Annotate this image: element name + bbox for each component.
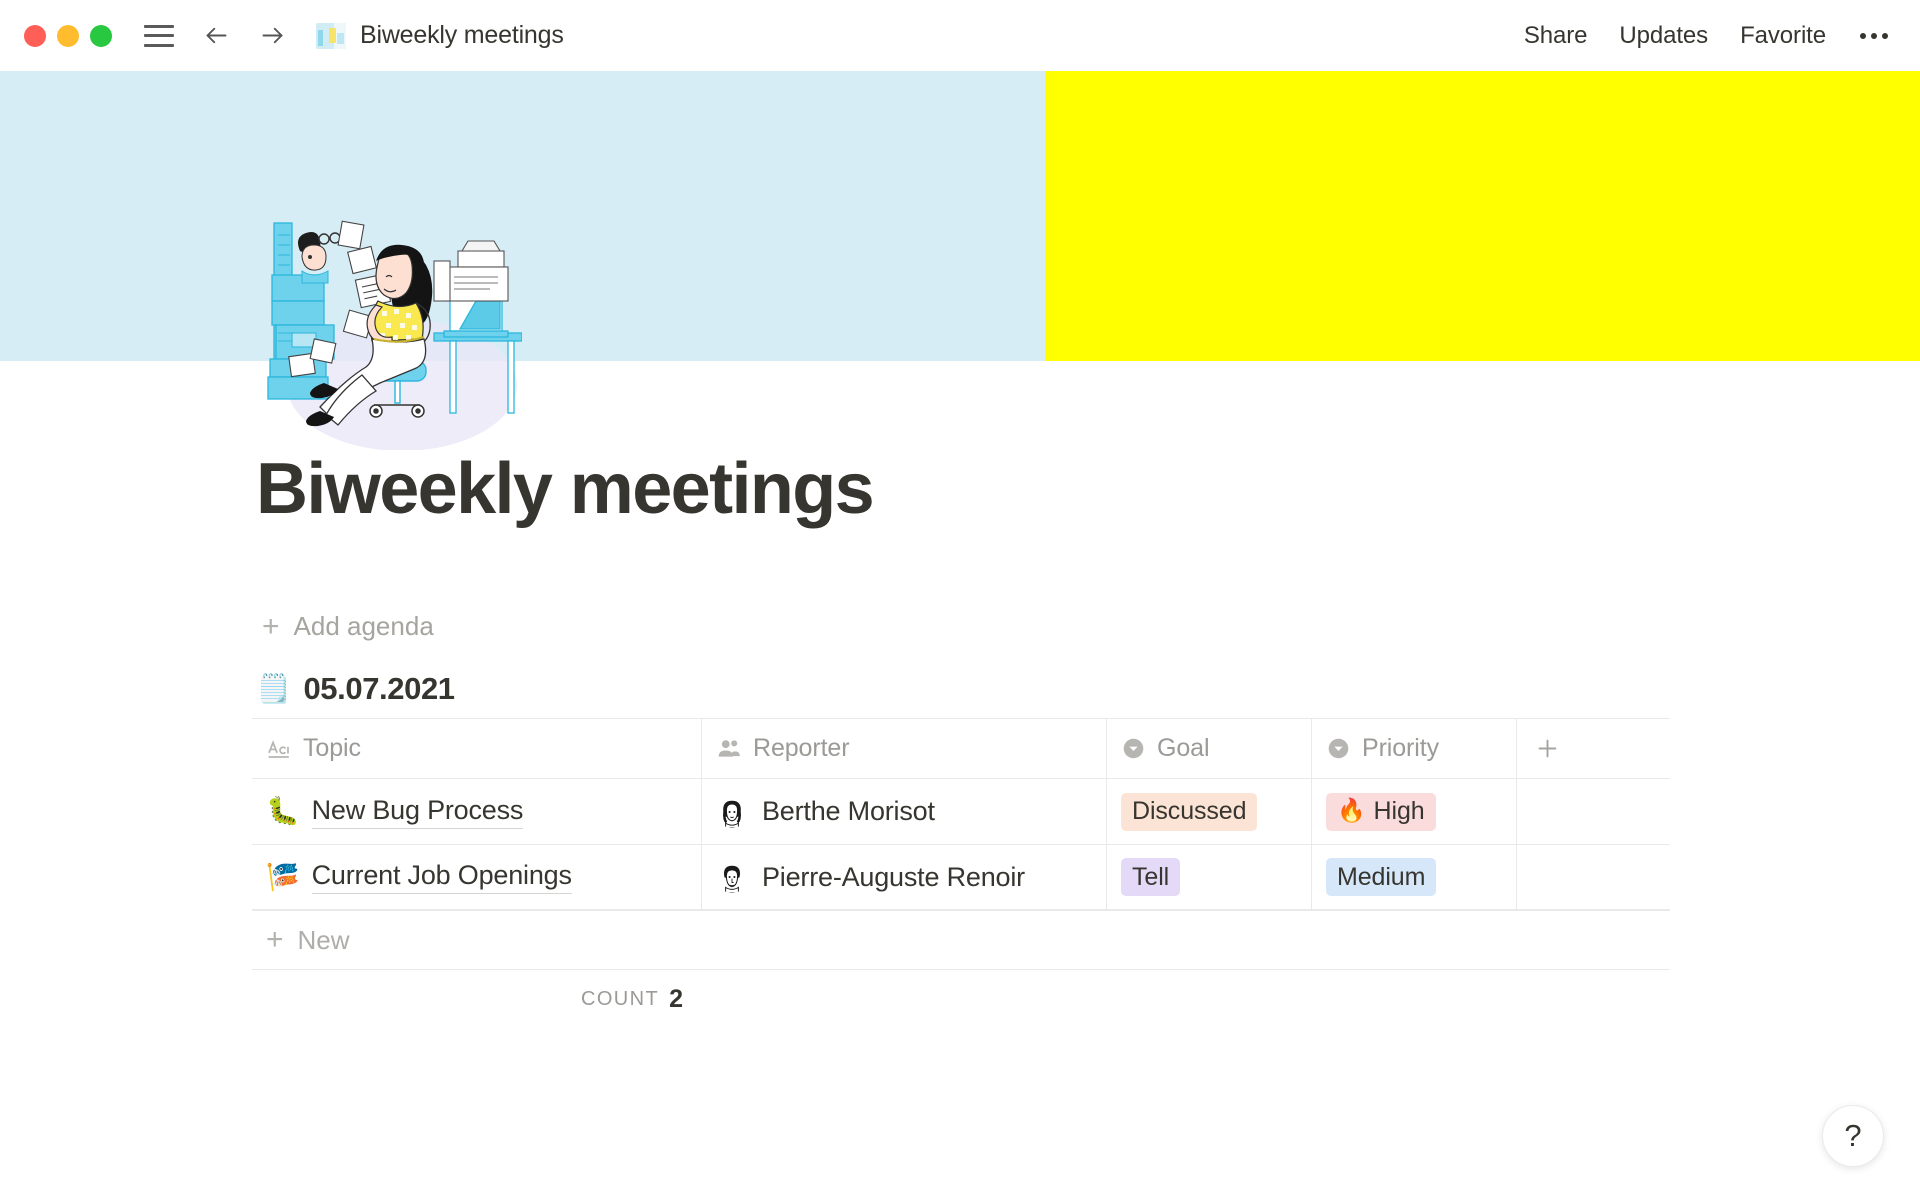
table-header-row: Topic Reporter — [252, 718, 1670, 778]
fire-icon: 🔥 — [1337, 800, 1366, 823]
cell-empty — [1517, 779, 1670, 844]
window-title: Biweekly meetings — [360, 21, 564, 50]
column-header-reporter[interactable]: Reporter — [702, 719, 1107, 778]
page-body: Biweekly meetings + Add agenda 🗒️ 05.07.… — [0, 361, 1920, 1200]
priority-tag[interactable]: 🔥 High — [1326, 793, 1436, 831]
cover-band-right — [1045, 71, 1920, 361]
cell-goal[interactable]: Discussed — [1107, 779, 1312, 844]
page-cover-thumbnail-icon — [316, 23, 346, 49]
select-icon — [1326, 736, 1351, 761]
column-header-goal-label: Goal — [1157, 734, 1209, 763]
column-header-reporter-label: Reporter — [753, 734, 849, 763]
reporter-name: Pierre-Auguste Renoir — [762, 862, 1025, 893]
help-button[interactable]: ? — [1822, 1105, 1884, 1167]
add-agenda-button[interactable]: + Add agenda — [262, 611, 434, 642]
cell-priority[interactable]: Medium — [1312, 845, 1517, 909]
caterpillar-icon: 🐛 — [266, 798, 300, 825]
column-header-goal[interactable]: Goal — [1107, 719, 1312, 778]
more-options-icon[interactable] — [1842, 29, 1894, 43]
new-row-label: New — [298, 925, 350, 956]
page-title[interactable]: Biweekly meetings — [256, 453, 873, 525]
cell-reporter[interactable]: Pierre-Auguste Renoir — [702, 845, 1107, 909]
cell-reporter[interactable]: Berthe Morisot — [702, 779, 1107, 844]
column-header-topic-label: Topic — [303, 734, 361, 763]
window-titlebar: Biweekly meetings Share Updates Favorite — [0, 0, 1920, 71]
reporter-name: Berthe Morisot — [762, 796, 935, 827]
goal-tag-label: Tell — [1132, 863, 1169, 892]
cover-illustration — [262, 205, 522, 450]
notion-window: Biweekly meetings Share Updates Favorite — [0, 0, 1920, 1200]
goal-tag[interactable]: Tell — [1121, 858, 1180, 896]
spiral-notepad-icon: 🗒️ — [256, 675, 290, 703]
count-label: Count — [581, 988, 659, 1011]
new-row-button[interactable]: + New — [252, 910, 1670, 970]
plus-icon: + — [266, 925, 284, 955]
count-value: 2 — [669, 985, 683, 1014]
person-icon — [716, 736, 742, 762]
topic-link[interactable]: New Bug Process — [312, 795, 524, 829]
column-header-priority-label: Priority — [1362, 734, 1439, 763]
text-type-icon — [266, 736, 292, 762]
cell-topic[interactable]: 🎏 Current Job Openings — [252, 845, 702, 909]
select-icon — [1121, 736, 1146, 761]
minimize-window-button[interactable] — [57, 25, 79, 47]
table-footer-count[interactable]: Count 2 — [252, 972, 1012, 1026]
plus-icon[interactable] — [1531, 733, 1563, 765]
topic-link[interactable]: Current Job Openings — [312, 860, 572, 894]
goal-tag-label: Discussed — [1132, 797, 1246, 826]
priority-tag-label: High — [1374, 797, 1425, 826]
add-agenda-label: Add agenda — [294, 611, 434, 642]
hamburger-menu-icon[interactable] — [144, 25, 174, 47]
plus-icon: + — [262, 612, 280, 642]
agenda-table: Topic Reporter — [252, 718, 1670, 970]
cell-topic[interactable]: 🐛 New Bug Process — [252, 779, 702, 844]
traffic-lights — [24, 25, 112, 47]
cover-band-left — [0, 71, 1045, 361]
column-header-priority[interactable]: Priority — [1312, 719, 1517, 778]
goal-tag[interactable]: Discussed — [1121, 793, 1257, 831]
titlebar-actions: Share Updates Favorite — [1508, 18, 1894, 54]
cell-empty — [1517, 845, 1670, 909]
table-row[interactable]: 🐛 New Bug Process — [252, 778, 1670, 844]
cell-priority[interactable]: 🔥 High — [1312, 779, 1517, 844]
column-header-topic[interactable]: Topic — [252, 719, 702, 778]
favorite-button[interactable]: Favorite — [1724, 18, 1842, 54]
priority-tag[interactable]: Medium — [1326, 858, 1436, 896]
date-heading: 🗒️ 05.07.2021 — [256, 671, 455, 707]
carp-streamer-icon: 🎏 — [266, 864, 300, 891]
date-heading-text: 05.07.2021 — [303, 671, 454, 707]
cell-goal[interactable]: Tell — [1107, 845, 1312, 909]
close-window-button[interactable] — [24, 25, 46, 47]
avatar — [716, 796, 748, 828]
avatar — [716, 861, 748, 893]
arrow-left-icon[interactable] — [202, 22, 230, 50]
updates-button[interactable]: Updates — [1603, 18, 1724, 54]
table-row[interactable]: 🎏 Current Job Openings — [252, 844, 1670, 910]
arrow-right-icon[interactable] — [258, 22, 286, 50]
share-button[interactable]: Share — [1508, 18, 1604, 54]
priority-tag-label: Medium — [1337, 863, 1425, 892]
maximize-window-button[interactable] — [90, 25, 112, 47]
add-column-cell[interactable] — [1517, 719, 1670, 778]
